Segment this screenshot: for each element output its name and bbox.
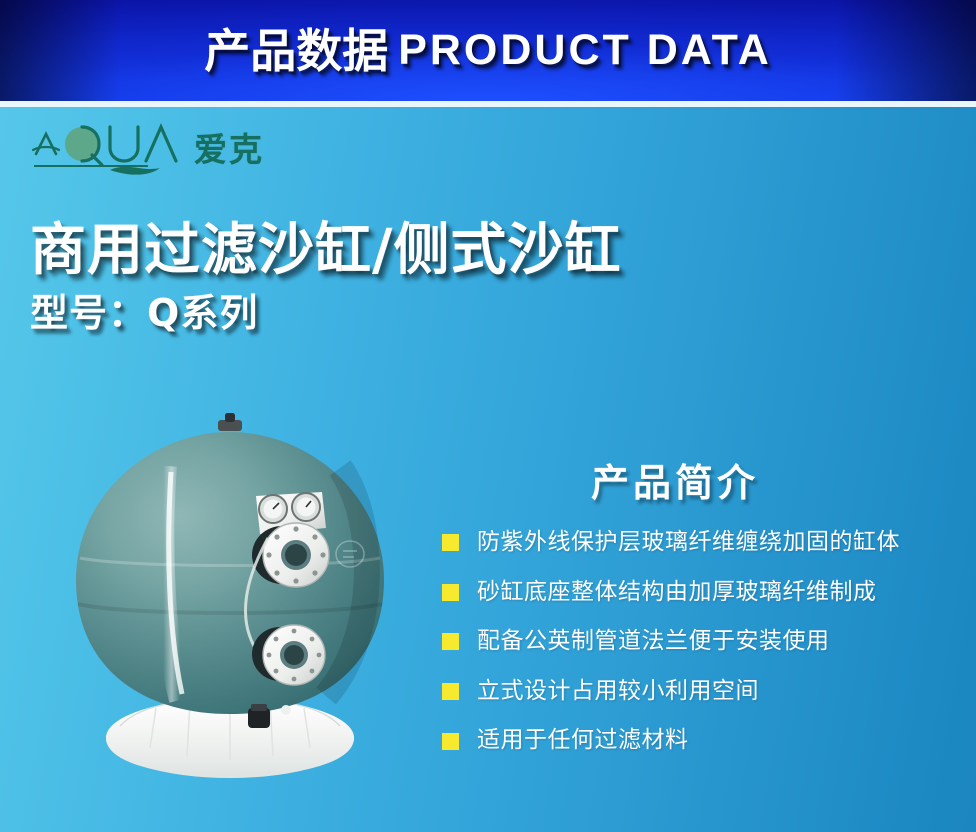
product-intro-section: 产品简介 防紫外线保护层玻璃纤维缠绕加固的缸体 砂缸底座整体结构由加厚玻璃纤维制… [430,452,960,777]
pressure-gauge [259,495,287,523]
banner-title-english: PRODUCT DATA [398,29,772,72]
aqua-wordmark-icon [30,120,186,180]
model-label: 型号： [30,291,147,335]
filter-tank-body [76,432,384,714]
banner-title-chinese: 产品数据 [204,28,388,74]
header-banner: 产品数据 PRODUCT DATA [0,0,976,101]
page-title: 商用过滤沙缸/侧式沙缸 [30,222,930,281]
top-vent-valve [218,413,242,431]
feature-item: 配备公英制管道法兰便于安装使用 [430,628,960,656]
intro-heading: 产品简介 [390,452,960,507]
bullet-square-icon [442,683,459,700]
brand-logo: 爱克 [30,118,290,182]
bullet-square-icon [442,584,459,601]
feature-text: 配备公英制管道法兰便于安装使用 [477,628,830,656]
upper-flange-port [252,523,329,587]
feature-text: 砂缸底座整体结构由加厚玻璃纤维制成 [477,579,877,607]
product-data-page: 产品数据 PRODUCT DATA 爱克 [0,0,976,832]
product-image [40,408,420,798]
banner-divider [0,101,976,107]
header-banner-content: 产品数据 PRODUCT DATA [0,0,976,101]
feature-item: 立式设计占用较小利用空间 [430,678,960,706]
model-value: Q系列 [147,291,258,335]
feature-text: 适用于任何过滤材料 [477,727,689,755]
feature-item: 砂缸底座整体结构由加厚玻璃纤维制成 [430,579,960,607]
feature-text: 防紫外线保护层玻璃纤维缠绕加固的缸体 [477,529,900,557]
bullet-square-icon [442,534,459,551]
bullet-square-icon [442,733,459,750]
pressure-gauge [292,493,320,521]
feature-item: 防紫外线保护层玻璃纤维缠绕加固的缸体 [430,529,960,557]
model-number: 型号：Q系列 [30,293,930,335]
brand-name-chinese: 爱克 [194,123,264,171]
title-block: 商用过滤沙缸/侧式沙缸 型号：Q系列 [30,222,930,335]
bullet-square-icon [442,633,459,650]
feature-text: 立式设计占用较小利用空间 [477,678,759,706]
feature-item: 适用于任何过滤材料 [430,727,960,755]
